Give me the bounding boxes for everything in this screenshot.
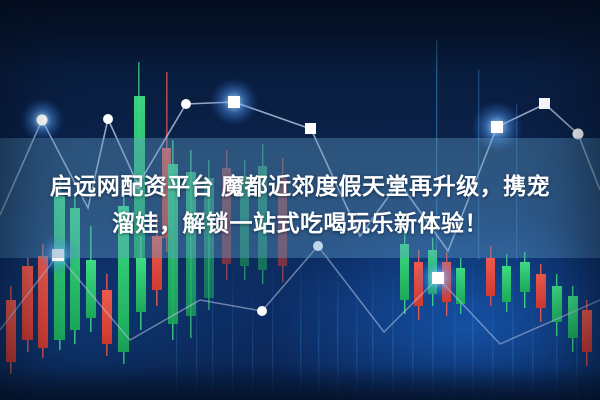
headline-line-2: 溜娃，解锁一站式吃喝玩乐新体验！ bbox=[0, 205, 600, 242]
headline-line-1: 启远网配资平台 魔都近郊度假天堂再升级，携宠 bbox=[0, 168, 600, 205]
headline: 启远网配资平台 魔都近郊度假天堂再升级，携宠 溜娃，解锁一站式吃喝玩乐新体验！ bbox=[0, 168, 600, 242]
top-shade bbox=[0, 0, 600, 70]
bottom-shade bbox=[0, 366, 600, 400]
promo-banner: 启远网配资平台 魔都近郊度假天堂再升级，携宠 溜娃，解锁一站式吃喝玩乐新体验！ bbox=[0, 0, 600, 400]
